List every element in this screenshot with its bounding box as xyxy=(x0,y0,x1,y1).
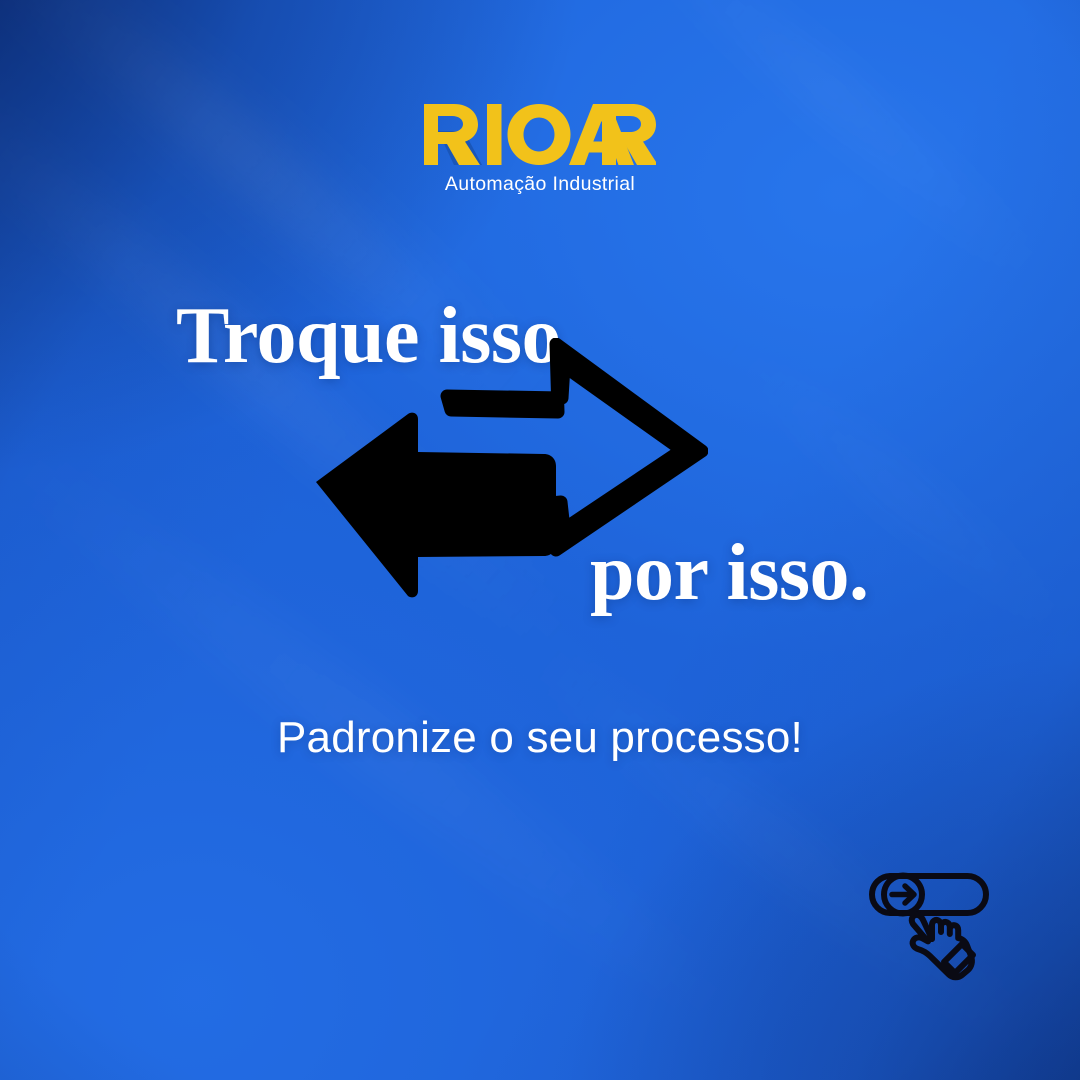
swipe-hand-icon[interactable] xyxy=(866,866,996,981)
swipe-cta-badge[interactable] xyxy=(866,866,996,981)
left-arrow-solid xyxy=(316,413,556,598)
subheadline: Padronize o seu processo! xyxy=(0,713,1080,763)
rioar-wordmark-icon xyxy=(424,104,656,166)
brand-tagline: Automação Industrial xyxy=(0,173,1080,196)
brand-logo: Automação Industrial xyxy=(0,104,1080,196)
pointing-hand-icon xyxy=(912,915,973,977)
headline-line-2: por isso. xyxy=(590,533,869,613)
social-post-canvas: Automação Industrial Troque isso por iss… xyxy=(0,0,1080,1080)
